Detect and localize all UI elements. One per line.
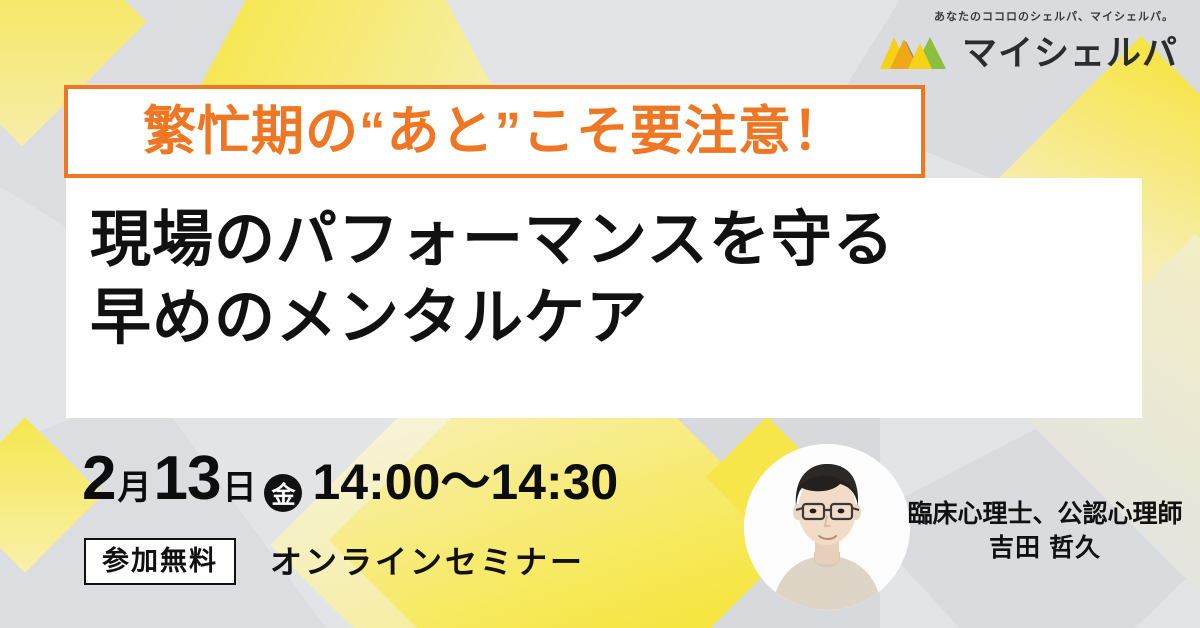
brand-tagline: あなたのココロのシェルパ、マイシェルパ。 xyxy=(880,12,1174,23)
seminar-format-label: オンラインセミナー xyxy=(270,546,585,578)
weekday-badge: 金 xyxy=(264,474,302,512)
month-unit: 月 xyxy=(115,471,153,505)
yellow-triangle-top xyxy=(196,0,496,94)
time-range: 14:00〜14:30 xyxy=(312,457,618,507)
brand-logo[interactable]: あなたのココロのシェルパ、マイシェルパ。 マイシェルパ xyxy=(880,12,1178,75)
day-unit: 日 xyxy=(220,471,258,505)
seminar-banner: あなたのココロのシェルパ、マイシェルパ。 マイシェルパ 繁忙期の“あと”こそ要注… xyxy=(0,0,1200,628)
schedule-row: 2 月 13 日 金 14:00〜14:30 xyxy=(82,448,618,510)
free-admission-badge: 参加無料 xyxy=(84,538,236,585)
month-number: 2 xyxy=(82,448,115,510)
brand-name: マイシェルパ xyxy=(962,36,1178,71)
speaker-credentials: 臨床心理士、公認心理師 xyxy=(900,498,1190,532)
speaker-name: 吉田 哲久 xyxy=(900,532,1190,566)
details-row: 参加無料 オンラインセミナー xyxy=(84,538,585,585)
speaker-info: 臨床心理士、公認心理師 吉田 哲久 xyxy=(900,498,1190,566)
day-number: 13 xyxy=(153,448,220,510)
three-mountains-icon xyxy=(880,31,952,75)
title-line-2: 早めのメンタルケア xyxy=(90,278,1142,356)
speaker-portrait-illustration xyxy=(744,444,910,610)
headline-text: 繁忙期の“あと”こそ要注意！ xyxy=(143,105,846,158)
speaker-avatar xyxy=(744,444,910,610)
brand-lockup: マイシェルパ xyxy=(880,31,1178,75)
headline-box: 繁忙期の“あと”こそ要注意！ xyxy=(64,85,925,178)
title-line-1: 現場のパフォーマンスを守る xyxy=(90,200,1142,278)
title-card: 現場のパフォーマンスを守る 早めのメンタルケア xyxy=(66,178,1142,418)
